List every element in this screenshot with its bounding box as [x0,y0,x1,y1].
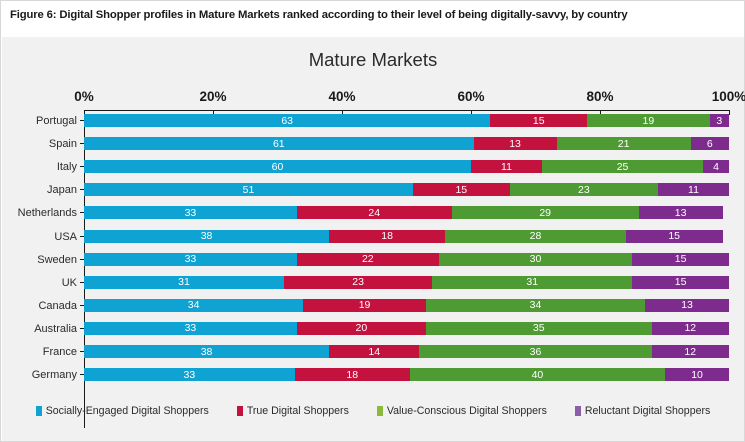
bar-segment[interactable]: 33 [84,322,297,335]
bar-segment-value: 40 [410,369,665,380]
bar-segment-value: 18 [329,231,445,242]
bar-row: 33184010 [84,368,729,381]
bar-segment-value: 31 [432,277,632,288]
bar-segment[interactable]: 12 [652,345,729,358]
y-axis-category-label: Japan [47,184,77,196]
bar-segment[interactable]: 14 [329,345,419,358]
bar-segment-value: 33 [84,323,297,334]
bar-segment-value: 21 [557,138,691,149]
bar-segment[interactable]: 51 [84,183,413,196]
bar-segment[interactable]: 24 [297,206,452,219]
bar-segment[interactable]: 29 [452,206,639,219]
bar-segment-value: 29 [452,208,639,219]
bar-segment[interactable]: 15 [413,183,510,196]
bar-segment-value: 38 [84,346,329,357]
legend-label: True Digital Shoppers [247,405,349,417]
bar-segment-value: 33 [84,254,297,265]
x-axis-tick-label: 60% [457,89,484,104]
bar-segment-value: 4 [703,161,729,172]
bar-segment[interactable]: 11 [471,160,542,173]
bar-segment[interactable]: 33 [84,253,297,266]
figure-container: Figure 6: Digital Shopper profiles in Ma… [0,0,745,442]
bar-segment-value: 11 [471,161,542,172]
bar-segment[interactable]: 36 [419,345,651,358]
bar-segment[interactable]: 15 [632,276,729,289]
bar-segment-value: 36 [419,346,651,357]
bar-segment-value: 51 [84,185,413,196]
bar-row: 6315193 [84,114,729,127]
x-axis-tick-label: 20% [199,89,226,104]
bar-segment[interactable]: 15 [632,253,729,266]
y-axis-category-label: Netherlands [18,207,77,219]
x-axis-tick-label: 40% [328,89,355,104]
legend-label: Socially-Engaged Digital Shoppers [46,405,209,417]
bar-segment-value: 6 [691,138,729,149]
x-axis-tick-label: 0% [74,89,94,104]
bar-row: 31233115 [84,276,729,289]
y-axis-category-label: USA [54,231,77,243]
x-axis-tick [729,111,730,115]
bar-segment-value: 12 [652,346,729,357]
bar-segment-value: 28 [445,231,626,242]
bar-row: 6113216 [84,137,729,150]
bar-segment-value: 30 [439,254,633,265]
bar-segment-value: 15 [632,277,729,288]
y-axis-category-label: Italy [57,161,77,173]
bar-segment[interactable]: 19 [587,114,710,127]
bar-segment-value: 15 [632,254,729,265]
bar-segment-value: 15 [490,115,587,126]
bar-segment[interactable]: 35 [426,322,652,335]
bar-segment-value: 3 [710,115,729,126]
legend-item[interactable]: Socially-Engaged Digital Shoppers [36,405,209,417]
y-axis-category-label: France [43,346,77,358]
bar-segment[interactable]: 18 [329,230,445,243]
bar-segment-value: 13 [645,300,729,311]
chart-legend: Socially-Engaged Digital ShoppersTrue Di… [2,405,744,417]
bar-segment-value: 60 [84,161,471,172]
bar-segment[interactable]: 34 [426,299,645,312]
legend-label: Reluctant Digital Shoppers [585,405,710,417]
bar-segment[interactable]: 30 [439,253,633,266]
bar-segment[interactable]: 22 [297,253,439,266]
bar-segment[interactable]: 60 [84,160,471,173]
bar-row: 33203512 [84,322,729,335]
x-axis-tick-label: 100% [712,89,745,104]
figure-caption: Figure 6: Digital Shopper profiles in Ma… [10,9,740,21]
bar-segment-value: 33 [84,208,297,219]
bar-segment-value: 23 [284,277,432,288]
bar-segment[interactable]: 40 [410,368,665,381]
bar-segment-value: 31 [84,277,284,288]
y-axis-category-label: Australia [34,323,77,335]
legend-item[interactable]: Reluctant Digital Shoppers [575,405,710,417]
bar-segment[interactable]: 18 [295,368,410,381]
bar-segment-value: 61 [84,138,474,149]
bar-row: 38182815 [84,230,729,243]
bar-segment[interactable]: 33 [84,206,297,219]
bar-segment-value: 14 [329,346,419,357]
bar-segment[interactable]: 12 [652,322,729,335]
y-axis-category-label: Spain [49,138,77,150]
legend-swatch-icon [575,406,581,416]
bar-row: 51152311 [84,183,729,196]
bar-segment[interactable]: 63 [84,114,490,127]
bar-segment-value: 12 [652,323,729,334]
bar-segment[interactable]: 23 [284,276,432,289]
bar-segment[interactable]: 19 [303,299,426,312]
bar-row: 6011254 [84,160,729,173]
bar-segment-value: 33 [84,369,295,380]
bar-row: 33223015 [84,253,729,266]
bar-segment[interactable]: 28 [445,230,626,243]
bar-row: 34193413 [84,299,729,312]
bar-segment-value: 13 [639,208,723,219]
bar-segment[interactable]: 11 [658,183,729,196]
bar-segment[interactable]: 38 [84,345,329,358]
bar-segment[interactable]: 3 [710,114,729,127]
bar-segment-value: 23 [510,185,658,196]
bar-segment-value: 15 [413,185,510,196]
bar-segment[interactable]: 13 [639,206,723,219]
bar-row: 38143612 [84,345,729,358]
bar-segment[interactable]: 25 [542,160,703,173]
bar-segment[interactable]: 15 [626,230,723,243]
chart-title: Mature Markets [2,49,744,71]
bar-segment[interactable]: 31 [84,276,284,289]
bar-segment-value: 34 [426,300,645,311]
bar-segment[interactable]: 23 [510,183,658,196]
chart-panel: Mature Markets 0%20%40%60%80%100% 631519… [2,37,744,441]
bar-segment-value: 13 [474,138,557,149]
bar-segment[interactable]: 13 [645,299,729,312]
y-axis-category-label: Sweden [37,254,77,266]
bar-segment-value: 15 [626,231,723,242]
bar-segment-value: 24 [297,208,452,219]
bar-segment-value: 25 [542,161,703,172]
legend-swatch-icon [237,406,243,416]
bar-segment[interactable]: 10 [665,368,729,381]
bar-segment[interactable]: 6 [691,137,729,150]
bar-segment[interactable]: 38 [84,230,329,243]
legend-swatch-icon [36,406,42,416]
y-axis-category-label: Portugal [36,115,77,127]
bar-segment-value: 19 [587,115,710,126]
bar-segment[interactable]: 20 [297,322,426,335]
y-axis-category-label: UK [62,277,77,289]
y-axis-category-label: Germany [32,369,77,381]
bar-segment-value: 34 [84,300,303,311]
y-axis-category-label: Canada [38,300,77,312]
bar-segment-value: 19 [303,300,426,311]
bar-segment-value: 22 [297,254,439,265]
bar-segment-value: 10 [665,369,729,380]
bar-segment-value: 11 [658,185,729,196]
bar-segment[interactable]: 21 [557,137,691,150]
bar-segment[interactable]: 61 [84,137,474,150]
legend-item[interactable]: True Digital Shoppers [237,405,349,417]
bar-segment-value: 63 [84,115,490,126]
bar-segment-value: 18 [295,369,410,380]
bar-segment[interactable]: 33 [84,368,295,381]
legend-item[interactable]: Value-Conscious Digital Shoppers [377,405,547,417]
bar-segment[interactable]: 15 [490,114,587,127]
bar-segment-value: 20 [297,323,426,334]
bar-segment-value: 38 [84,231,329,242]
legend-swatch-icon [377,406,383,416]
x-axis-tick-label: 80% [586,89,613,104]
bar-segment[interactable]: 31 [432,276,632,289]
bar-segment[interactable]: 4 [703,160,729,173]
bar-segment[interactable]: 13 [474,137,557,150]
bar-segment[interactable]: 34 [84,299,303,312]
plot-area: 6315193611321660112545115231133242913381… [84,111,729,400]
bar-segment-value: 35 [426,323,652,334]
legend-label: Value-Conscious Digital Shoppers [387,405,547,417]
bar-row: 33242913 [84,206,729,219]
